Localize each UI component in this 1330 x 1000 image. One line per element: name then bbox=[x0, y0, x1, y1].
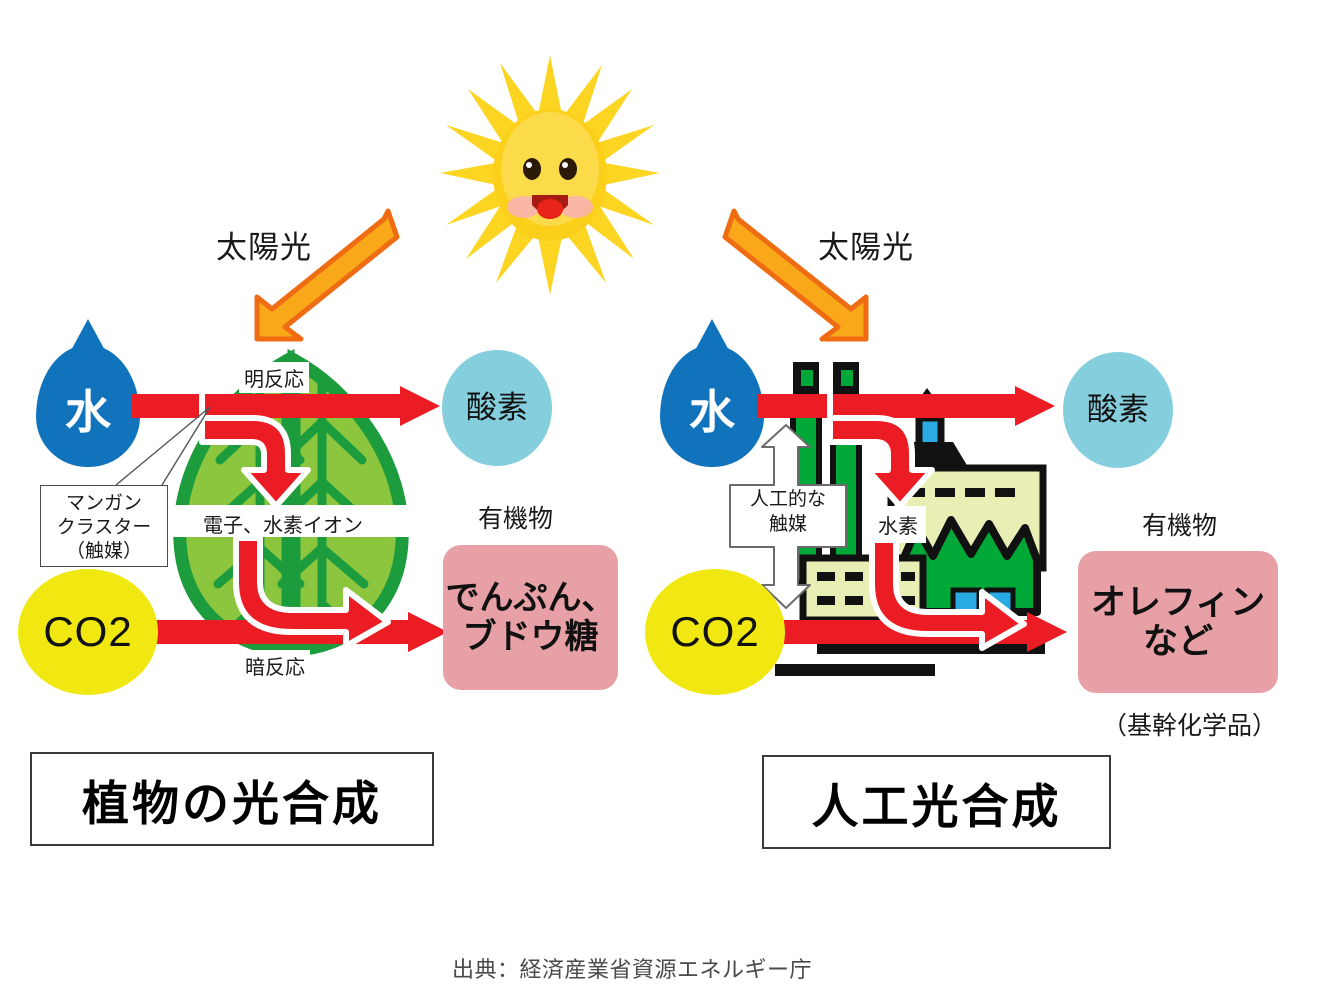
artificial-catalyst-callout-text: 人工的な 触媒 bbox=[735, 488, 841, 537]
oxygen-label-left: 酸素 bbox=[466, 392, 528, 425]
sun-icon bbox=[440, 55, 660, 295]
light-reaction-label-left: 明反応 bbox=[239, 362, 309, 393]
manganese-cluster-callout: マンガン クラスター （触媒） bbox=[40, 485, 168, 567]
hydrogen-label: 水素 bbox=[870, 506, 926, 543]
sunlight-label-left: 太陽光 bbox=[216, 222, 312, 267]
product-line2-left: ブドウ糖 bbox=[463, 618, 599, 656]
photosynthesis-comparison-diagram: 太陽光 太陽光 bbox=[0, 0, 1330, 1000]
product-subcaption-right: （基幹化学品） bbox=[1102, 706, 1277, 742]
sunlight-label-right: 太陽光 bbox=[818, 222, 914, 267]
source-note: 出典：経済産業省資源エネルギー庁 bbox=[452, 952, 812, 984]
oxygen-output-right: 酸素 bbox=[1063, 352, 1173, 468]
left-panel-title: 植物の光合成 bbox=[30, 752, 434, 846]
oxygen-label-right: 酸素 bbox=[1087, 394, 1149, 427]
catalyst-callout-line1: 人工的な bbox=[735, 488, 841, 513]
product-line2-right: など bbox=[1143, 622, 1213, 661]
carriers-label-left: 電子、水素イオン bbox=[203, 509, 363, 538]
manganese-callout-line1: マンガン bbox=[41, 492, 167, 516]
product-box-right: オレフィン など bbox=[1078, 551, 1278, 693]
manganese-callout-leader-lines bbox=[96, 405, 214, 487]
organic-caption-left: 有機物 bbox=[478, 499, 553, 535]
product-box-left: でんぷん、 ブドウ糖 bbox=[443, 545, 618, 690]
co2-input-left: CO2 bbox=[18, 569, 158, 695]
catalyst-callout-line2: 触媒 bbox=[735, 513, 841, 538]
manganese-callout-line2: クラスター bbox=[41, 516, 167, 540]
manganese-callout-line3: （触媒） bbox=[41, 540, 167, 564]
oxygen-output-left: 酸素 bbox=[442, 350, 552, 466]
dark-reaction-label-left: 暗反応 bbox=[240, 650, 310, 681]
hydrogen-flow-arrow-lower-right bbox=[872, 540, 1032, 650]
co2-input-right: CO2 bbox=[645, 569, 785, 695]
electron-flow-arrow-lower-left bbox=[236, 538, 396, 648]
product-line1-left: でんぷん、 bbox=[446, 579, 616, 617]
product-line1-right: オレフィン bbox=[1091, 583, 1265, 622]
organic-caption-right: 有機物 bbox=[1142, 506, 1217, 542]
electron-flow-arrow-upper-left bbox=[196, 388, 336, 508]
right-panel-title: 人工光合成 bbox=[762, 755, 1111, 849]
